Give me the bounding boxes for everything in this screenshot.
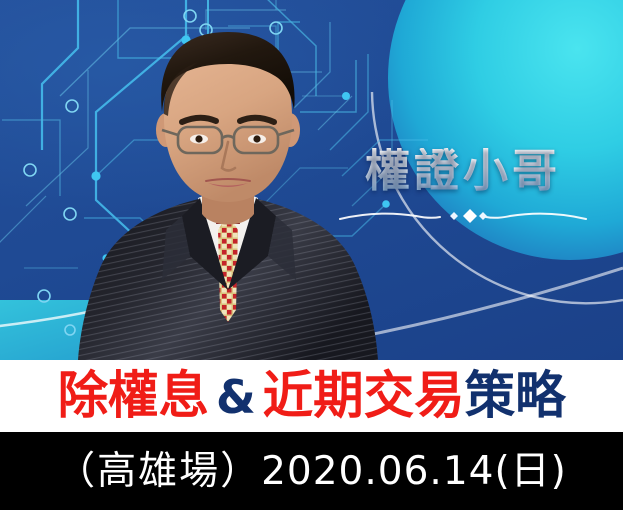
title-segment-1: 除權息 [57, 367, 208, 426]
date-band: （高雄場）2020.06.14(日) [0, 432, 623, 510]
event-weekday: (日) [494, 449, 566, 494]
cyan-orb-shape [372, 0, 623, 303]
event-year: 2020 [261, 449, 364, 494]
title-band: 除權息&近期交易策略 [0, 360, 623, 432]
date-separator-2: . [429, 449, 442, 494]
title-segment-2: 近期交易 [263, 367, 465, 426]
event-day: 14 [443, 449, 495, 494]
title-segment-3: 策略 [465, 367, 566, 426]
presenter-portrait [78, 18, 378, 360]
hero-banner: 權證小哥 [0, 0, 623, 360]
title-ampersand: & [209, 370, 263, 424]
event-poster: 權證小哥 除權息&近期交易策略 （高雄場）2020.06.14(日) [0, 0, 623, 510]
event-venue: （高雄場） [56, 449, 261, 494]
date-separator-1: . [364, 449, 377, 494]
event-month: 06 [378, 449, 430, 494]
event-date: （高雄場）2020.06.14(日) [56, 452, 567, 491]
event-title: 除權息&近期交易策略 [57, 371, 565, 422]
